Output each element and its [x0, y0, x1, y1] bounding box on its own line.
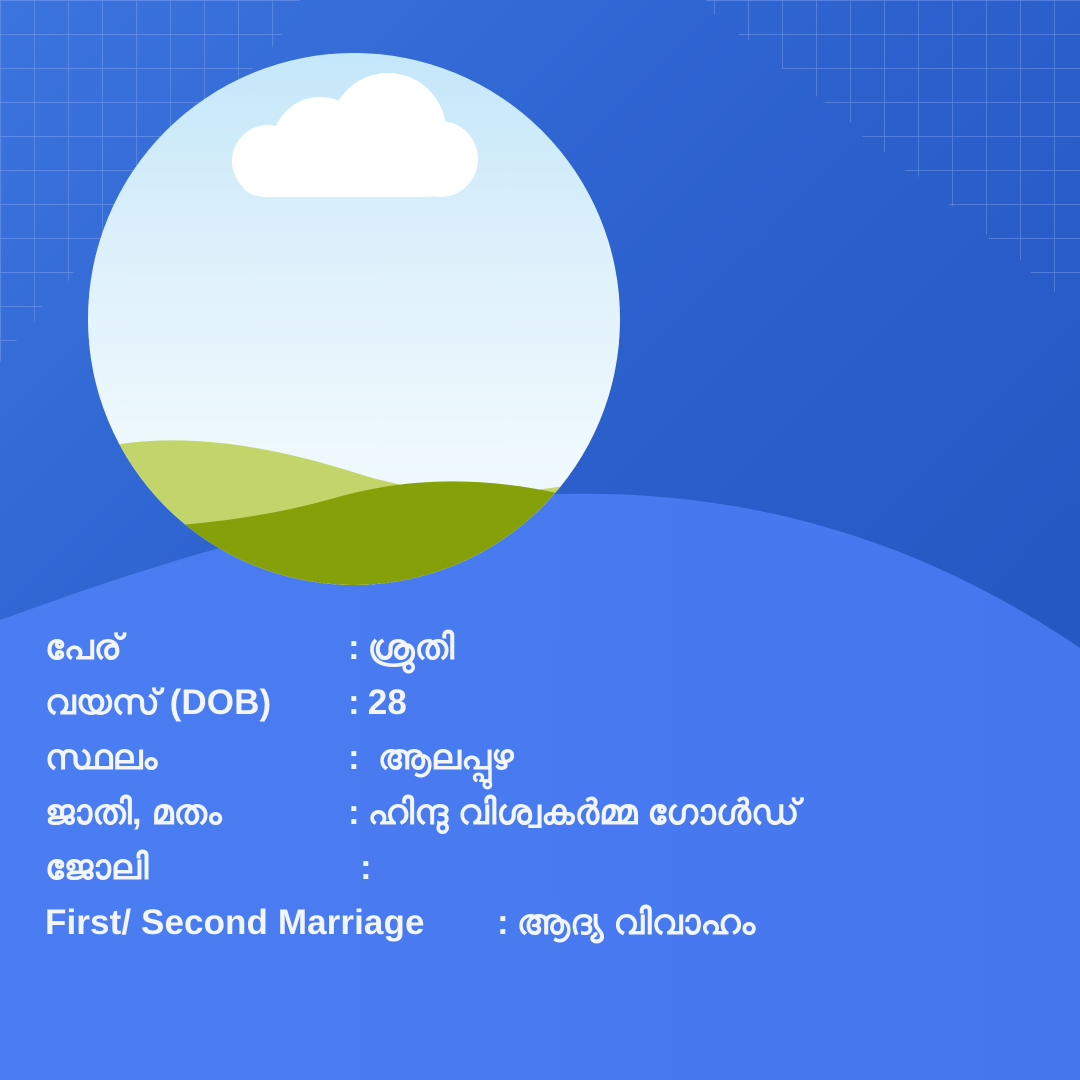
landscape-placeholder-photo — [88, 53, 620, 585]
detail-separator-job: : — [360, 848, 372, 888]
detail-label-marriage: First/ Second Marriage — [45, 903, 497, 943]
detail-separator-place: : — [348, 738, 360, 778]
detail-value-caste: ഹിന്ദു വിശ്വകർമ്മ ഗോൾഡ് — [368, 793, 800, 833]
detail-label-job: ജോലി — [45, 848, 360, 888]
detail-separator-caste: : — [348, 793, 360, 833]
detail-label-age: വയസ് (DOB) — [45, 683, 348, 723]
detail-label-place: സ്ഥലം — [45, 738, 348, 778]
detail-separator-marriage: : — [497, 903, 509, 943]
detail-value-marriage: ആദ്യ വിവാഹം — [517, 903, 756, 943]
detail-label-caste: ജാതി, മതം — [45, 793, 348, 833]
detail-row-caste: ജാതി, മതം : ഹിന്ദു വിശ്വകർമ്മ ഗോൾഡ് — [45, 793, 1035, 848]
detail-value-age: 28 — [368, 683, 407, 723]
profile-details-list: പേര് : ശ്രുതി വയസ് (DOB) : 28 സ്ഥലം : ആല… — [45, 628, 1035, 958]
profile-card: പേര് : ശ്രുതി വയസ് (DOB) : 28 സ്ഥലം : ആല… — [0, 0, 1080, 1080]
avatar — [88, 53, 620, 585]
detail-row-job: ജോലി : — [45, 848, 1035, 903]
detail-separator-age: : — [348, 683, 360, 723]
detail-row-name: പേര് : ശ്രുതി — [45, 628, 1035, 683]
detail-row-marriage: First/ Second Marriage : ആദ്യ വിവാഹം — [45, 903, 1035, 958]
detail-row-place: സ്ഥലം : ആലപ്പുഴ — [45, 738, 1035, 793]
detail-label-name: പേര് — [45, 628, 348, 668]
detail-value-name: ശ്രുതി — [368, 628, 455, 668]
detail-separator-name: : — [348, 628, 360, 668]
detail-row-age: വയസ് (DOB) : 28 — [45, 683, 1035, 738]
detail-value-place: ആലപ്പുഴ — [378, 738, 514, 778]
